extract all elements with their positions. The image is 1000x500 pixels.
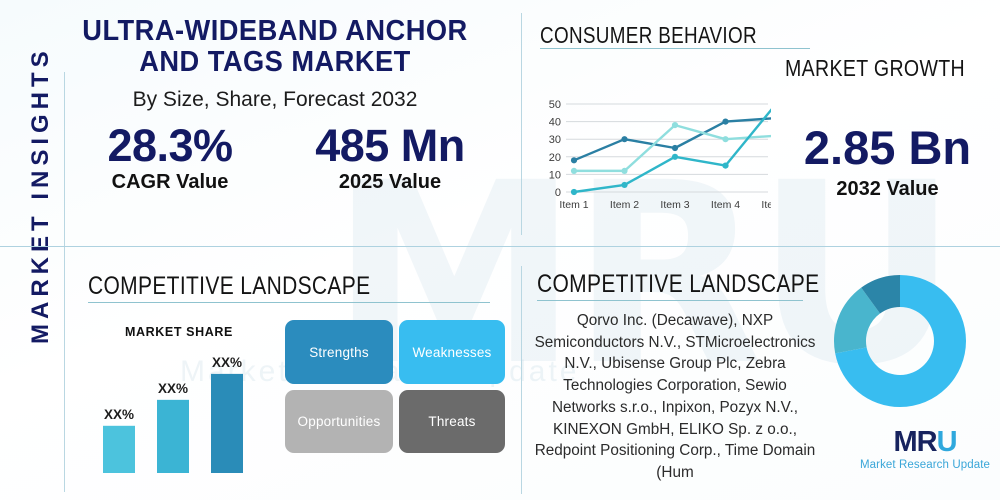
market-share-donut-chart <box>831 272 969 410</box>
swot-weaknesses-label: Weaknesses <box>412 345 491 360</box>
swot-strengths[interactable]: Strengths <box>285 320 393 384</box>
competitive-landscape-left-heading: COMPETITIVE LANDSCAPE <box>88 272 370 301</box>
line-chart-xtick-labels: Item 1Item 2Item 3Item 4Item 5 <box>559 199 771 211</box>
svg-text:XX%: XX% <box>212 355 242 370</box>
svg-text:50: 50 <box>549 99 561 111</box>
svg-text:Item 5: Item 5 <box>761 199 771 211</box>
market-growth-value: 2.85 Bn <box>780 120 995 175</box>
company-list: Qorvo Inc. (Decawave), NXP Semiconductor… <box>530 310 820 484</box>
competitive-landscape-right-underline <box>537 300 803 301</box>
swot-threats[interactable]: Threats <box>399 390 505 453</box>
consumer-behavior-underline <box>540 48 810 49</box>
market-growth-label: 2032 Value <box>780 178 995 201</box>
swot-opportunities-label: Opportunities <box>298 414 381 429</box>
consumer-behavior-line-chart: 01020304050 Item 1Item 2Item 3Item 4Item… <box>536 96 771 214</box>
mru-logo-subtitle: Market Research Update <box>850 459 1000 471</box>
svg-text:XX%: XX% <box>104 407 134 422</box>
svg-text:Item 3: Item 3 <box>660 199 689 211</box>
divider-vertical-center-top <box>521 13 522 235</box>
divider-horizontal-main <box>0 246 1000 247</box>
line-chart-ytick-labels: 01020304050 <box>549 99 561 199</box>
svg-text:XX%: XX% <box>158 381 188 396</box>
market-growth-heading: MARKET GROWTH <box>785 55 965 82</box>
swot-threats-label: Threats <box>428 414 475 429</box>
logo-letter-u: U <box>937 426 957 458</box>
donut-segments <box>834 275 966 407</box>
svg-text:Item 1: Item 1 <box>559 199 588 211</box>
competitive-landscape-right-heading: COMPETITIVE LANDSCAPE <box>537 270 819 299</box>
swot-strengths-label: Strengths <box>309 345 369 360</box>
svg-text:Item 4: Item 4 <box>711 199 740 211</box>
svg-text:0: 0 <box>555 187 561 199</box>
svg-text:30: 30 <box>549 134 561 146</box>
divider-vertical-center-bottom <box>521 266 522 494</box>
consumer-behavior-heading: CONSUMER BEHAVIOR <box>540 22 757 49</box>
svg-text:Item 2: Item 2 <box>610 199 639 211</box>
line-chart-series <box>571 101 771 195</box>
svg-text:40: 40 <box>549 117 561 129</box>
market-share-bar-chart: XX%XX%XX% <box>95 335 260 480</box>
kpi-2025-value: 485 Mn <box>280 122 500 169</box>
mru-logo-mark: MRU <box>893 428 956 457</box>
kpi-group: 28.3% CAGR Value 485 Mn 2025 Value <box>60 122 500 194</box>
infographic-canvas: MRU Market Research Update MARKET INSIGH… <box>0 0 1000 500</box>
kpi-2025-label: 2025 Value <box>280 171 500 194</box>
competitive-landscape-left-underline <box>88 302 490 303</box>
line-chart-gridlines <box>566 104 768 192</box>
swot-weaknesses[interactable]: Weaknesses <box>399 320 505 384</box>
svg-text:20: 20 <box>549 152 561 164</box>
page-title: ULTRA-WIDEBAND ANCHOR AND TAGS MARKET <box>54 16 496 79</box>
logo-letter-m: M <box>893 426 916 458</box>
page-subtitle: By Size, Share, Forecast 2032 <box>40 88 510 112</box>
mru-logo: MRU Market Research Update <box>850 428 1000 471</box>
kpi-2025: 485 Mn 2025 Value <box>280 122 500 194</box>
logo-letter-r: R <box>917 426 937 458</box>
kpi-cagr-label: CAGR Value <box>60 171 280 194</box>
market-insights-rail: MARKET INSIGHTS <box>27 114 55 344</box>
swot-grid: Strengths Weaknesses Opportunities Threa… <box>285 320 505 453</box>
kpi-cagr: 28.3% CAGR Value <box>60 122 280 194</box>
svg-text:10: 10 <box>549 169 561 181</box>
swot-opportunities[interactable]: Opportunities <box>285 390 393 453</box>
kpi-cagr-value: 28.3% <box>60 122 280 169</box>
